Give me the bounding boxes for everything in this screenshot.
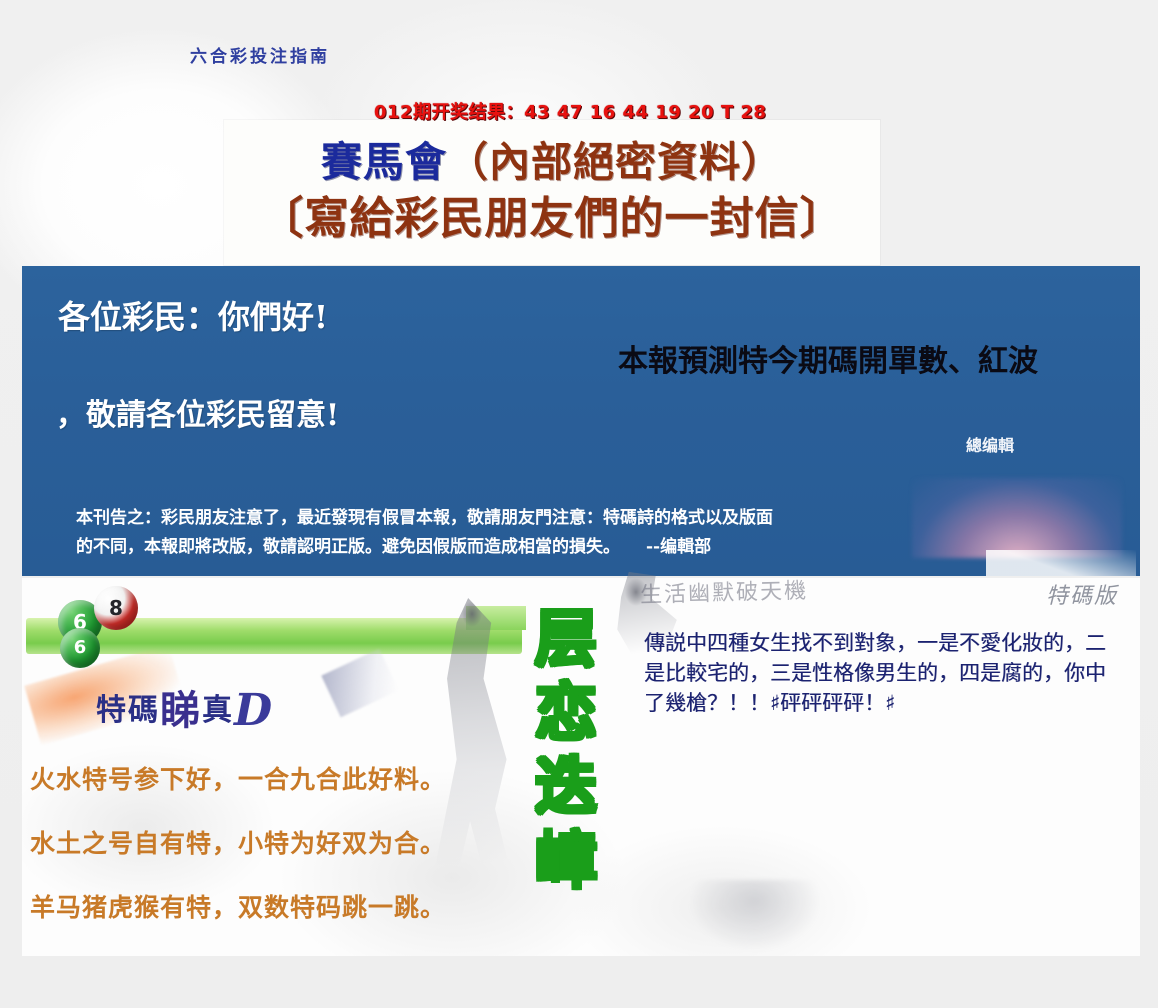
tema-headline: 特碼睇真D	[96, 678, 274, 736]
lottery-ball-green2-icon: 6	[60, 628, 100, 668]
smudge-decoration	[690, 880, 820, 950]
tema-poem: 火水特号参下好，一合九合此好料。 水土之号自有特，小特为好双为合。 羊马猪虎猴有…	[30, 748, 500, 940]
poem-line-3: 羊马猪虎猴有特，双数特码跳一跳。	[30, 876, 500, 940]
masthead-banner: 賽馬會（內部絕密資料） 〔寫給彩民朋友們的一封信〕	[224, 120, 880, 265]
tema-headline-script-d: D	[234, 685, 274, 736]
banner-label: 六合彩投注指南	[190, 42, 330, 67]
masthead-line-2: 〔寫給彩民朋友們的一封信〕	[224, 182, 880, 246]
masthead-title-red: （內部絕密資料）	[447, 138, 783, 186]
poem-line-2: 水土之号自有特，小特为好双为合。	[30, 812, 500, 876]
draw-result-line: 012期开奖结果：43 47 16 44 19 20 T 28	[374, 98, 767, 124]
notice-signature: --编輯部	[620, 537, 711, 557]
humor-watermark: 生活幽默破天機	[640, 573, 809, 609]
notice-line-2-wrap: 的不同，本報即將改版，敬請認明正版。避免因假版而造成相當的損失。--编輯部	[76, 533, 1086, 562]
poster-canvas: 012期开奖结果：43 47 16 44 19 20 T 28 賽馬會（內部絕密…	[0, 0, 1158, 1008]
tema-headline-part1: 特碼	[96, 693, 160, 728]
letter-signature: 總编輯	[966, 432, 1014, 456]
poem-line-1: 火水特号参下好，一合九合此好料。	[30, 748, 500, 812]
tema-headline-big: 睇	[160, 687, 202, 734]
notice-line-2: 的不同，本報即將改版，敬請認明正版。避免因假版而造成相當的損失。	[76, 537, 620, 557]
joke-text: 傳説中四種女生找不到對象，一是不愛化妝的，二是比較宅的，三是性格像男生的，四是腐…	[644, 628, 1114, 718]
letter-forecast: 本報預測特今期碼開單數、紅波	[618, 336, 1038, 380]
vertical-slogan-char-1: 层	[528, 602, 604, 676]
vertical-slogan-char-2: 恋	[528, 676, 604, 750]
masthead-title-blue: 賽馬會	[321, 138, 447, 186]
letter-attention: ，敬請各位彩民留意!	[56, 390, 339, 434]
notice-line-1: 本刊告之：彩民朋友注意了，最近發現有假冒本報，敬請朋友門注意：特碼詩的格式以及版…	[76, 504, 1086, 533]
tema-edition-label: 特碼版	[1046, 578, 1118, 610]
masthead-line-1: 賽馬會（內部絕密資料）	[224, 128, 880, 188]
editorial-notice: 本刊告之：彩民朋友注意了，最近發現有假冒本報，敬請朋友門注意：特碼詩的格式以及版…	[76, 504, 1086, 562]
lottery-ball-red-icon: 8	[94, 586, 138, 630]
vertical-slogan-char-4: 嶂	[528, 824, 604, 898]
tema-headline-part2: 真	[202, 693, 234, 728]
vertical-slogan-char-3: 迭	[528, 750, 604, 824]
vertical-slogan: 层 恋 迭 嶂	[528, 602, 604, 898]
letter-greeting: 各位彩民：你們好!	[58, 292, 328, 338]
